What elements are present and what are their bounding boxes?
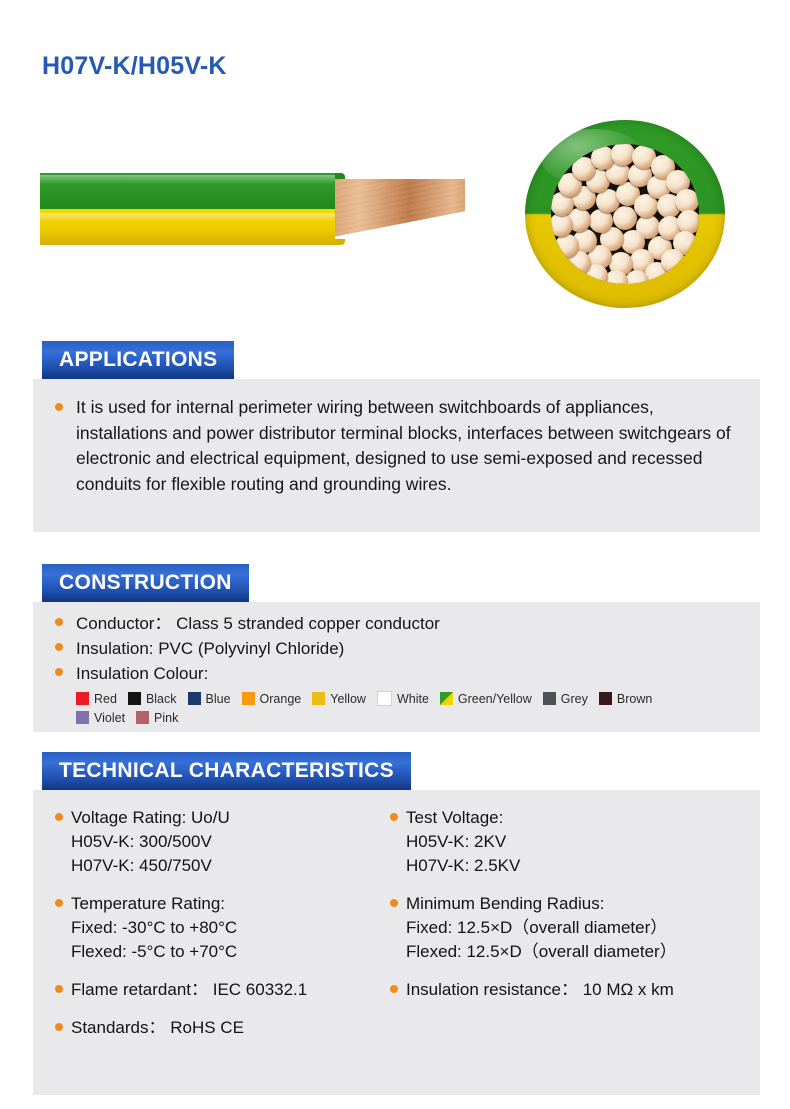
colour-swatch-item: White <box>377 689 429 708</box>
bullet-dot-icon <box>55 813 63 821</box>
colour-swatch-item: Grey <box>543 689 588 708</box>
bullet-dot-icon <box>390 985 398 993</box>
colour-swatch-label: Orange <box>260 692 302 706</box>
technical-item-title: Test Voltage: <box>406 806 520 830</box>
colour-swatch-icon <box>128 692 141 705</box>
technical-item-title: Minimum Bending Radius: <box>406 892 677 916</box>
colour-swatch-label: Brown <box>617 692 652 706</box>
cable-gloss-bottom <box>40 213 340 221</box>
colour-swatch-label: Blue <box>206 692 231 706</box>
technical-item-lines: Voltage Rating: Uo/UH05V-K: 300/500VH07V… <box>71 806 230 878</box>
construction-list-item: Insulation Colour: <box>55 661 760 686</box>
section-header-applications: APPLICATIONS <box>42 341 234 379</box>
bullet-dot-icon <box>55 643 63 651</box>
technical-item: Flame retardant： IEC 60332.1 <box>55 978 307 1002</box>
colour-swatch-label: Red <box>94 692 117 706</box>
colour-swatch-label: Yellow <box>330 692 366 706</box>
colour-swatch-item: Violet <box>76 708 125 727</box>
insulation-colour-swatch-list: RedBlackBlueOrangeYellowWhiteGreen/Yello… <box>76 689 716 727</box>
bullet-dot-icon <box>390 899 398 907</box>
colour-swatch-icon <box>76 692 89 705</box>
copper-strand-bundle <box>335 179 465 239</box>
technical-item: Voltage Rating: Uo/UH05V-K: 300/500VH07V… <box>55 806 307 878</box>
technical-item-value: H05V-K: 2KV <box>406 830 520 854</box>
technical-column-left: Voltage Rating: Uo/UH05V-K: 300/500VH07V… <box>55 806 307 1054</box>
technical-item-title: Insulation resistance： 10 MΩ x km <box>406 978 674 1002</box>
colour-swatch-item: Black <box>128 689 177 708</box>
technical-item-title: Voltage Rating: Uo/U <box>71 806 230 830</box>
bullet-dot-icon <box>55 1023 63 1031</box>
colour-swatch-label: Pink <box>154 711 178 725</box>
colour-swatch-item: Yellow <box>312 689 366 708</box>
colour-swatch-icon <box>76 711 89 724</box>
technical-item-value: Fixed: 12.5×D（overall diameter） <box>406 916 677 940</box>
colour-swatch-icon <box>377 691 392 706</box>
cross-section-copper-core <box>551 144 699 283</box>
cable-gloss-top <box>40 175 340 184</box>
technical-item-value: Flexed: 12.5×D（overall diameter） <box>406 940 677 964</box>
technical-item: Test Voltage:H05V-K: 2KVH07V-K: 2.5KV <box>390 806 677 878</box>
bullet-dot-icon <box>390 813 398 821</box>
colour-swatch-label: Green/Yellow <box>458 692 532 706</box>
technical-item: Temperature Rating:Fixed: -30°C to +80°C… <box>55 892 307 964</box>
bullet-dot-icon <box>55 899 63 907</box>
copper-strand <box>555 234 579 258</box>
colour-swatch-icon <box>188 692 201 705</box>
bullet-dot-icon <box>55 985 63 993</box>
page-title: H07V-K/H05V-K <box>42 52 227 81</box>
colour-swatch-item: Blue <box>188 689 231 708</box>
technical-item: Minimum Bending Radius:Fixed: 12.5×D（ove… <box>390 892 677 964</box>
copper-strand <box>613 206 637 230</box>
colour-swatch-icon <box>242 692 255 705</box>
section-header-construction: CONSTRUCTION <box>42 564 249 602</box>
colour-swatch-icon <box>543 692 556 705</box>
construction-list-item: Insulation: PVC (Polyvinyl Chloride) <box>55 636 760 661</box>
technical-item-title: Standards： RoHS CE <box>71 1016 244 1040</box>
technical-item-value: H07V-K: 2.5KV <box>406 854 520 878</box>
technical-item-lines: Insulation resistance： 10 MΩ x km <box>406 978 674 1002</box>
bullet-dot-icon <box>55 618 63 626</box>
technical-column-right: Test Voltage:H05V-K: 2KVH07V-K: 2.5KVMin… <box>390 806 677 1016</box>
colour-swatch-item: Red <box>76 689 117 708</box>
technical-item-value: Fixed: -30°C to +80°C <box>71 916 237 940</box>
section-header-technical: TECHNICAL CHARACTERISTICS <box>42 752 411 790</box>
technical-item-title: Temperature Rating: <box>71 892 237 916</box>
colour-swatch-label: Grey <box>561 692 588 706</box>
construction-panel: Conductor： Class 5 stranded copper condu… <box>33 602 760 732</box>
technical-item: Standards： RoHS CE <box>55 1016 307 1040</box>
colour-swatch-label: White <box>397 692 429 706</box>
colour-swatch-item: Orange <box>242 689 302 708</box>
construction-item-label: Insulation: PVC (Polyvinyl Chloride) <box>76 636 344 661</box>
applications-text: It is used for internal perimeter wiring… <box>76 395 740 497</box>
technical-item-title: Flame retardant： IEC 60332.1 <box>71 978 307 1002</box>
construction-item-label: Insulation Colour: <box>76 661 208 686</box>
colour-swatch-icon <box>136 711 149 724</box>
technical-panel: Voltage Rating: Uo/UH05V-K: 300/500VH07V… <box>33 790 760 1095</box>
green-yellow-cable-photo <box>40 173 340 245</box>
colour-swatch-label: Black <box>146 692 177 706</box>
construction-item-label: Conductor： Class 5 stranded copper condu… <box>76 611 440 636</box>
colour-swatch-item: Green/Yellow <box>440 689 532 708</box>
bullet-dot-icon <box>55 668 63 676</box>
colour-swatch-item: Brown <box>599 689 652 708</box>
colour-swatch-icon <box>440 692 453 705</box>
technical-item: Insulation resistance： 10 MΩ x km <box>390 978 677 1002</box>
colour-swatch-item: Pink <box>136 708 178 727</box>
technical-item-lines: Temperature Rating:Fixed: -30°C to +80°C… <box>71 892 237 964</box>
applications-bullet: It is used for internal perimeter wiring… <box>33 379 760 497</box>
technical-item-value: H07V-K: 450/750V <box>71 854 230 878</box>
bullet-dot-icon <box>55 403 63 411</box>
cable-green-half <box>40 173 340 209</box>
technical-item-lines: Flame retardant： IEC 60332.1 <box>71 978 307 1002</box>
construction-list-item: Conductor： Class 5 stranded copper condu… <box>55 611 760 636</box>
cable-cross-section <box>525 120 725 308</box>
applications-panel: It is used for internal perimeter wiring… <box>33 379 760 532</box>
product-artwork <box>0 105 790 320</box>
colour-swatch-icon <box>312 692 325 705</box>
technical-item-lines: Minimum Bending Radius:Fixed: 12.5×D（ove… <box>406 892 677 964</box>
technical-item-value: Flexed: -5°C to +70°C <box>71 940 237 964</box>
technical-item-lines: Standards： RoHS CE <box>71 1016 244 1040</box>
technical-item-lines: Test Voltage:H05V-K: 2KVH07V-K: 2.5KV <box>406 806 520 878</box>
colour-swatch-icon <box>599 692 612 705</box>
technical-item-value: H05V-K: 300/500V <box>71 830 230 854</box>
colour-swatch-label: Violet <box>94 711 125 725</box>
